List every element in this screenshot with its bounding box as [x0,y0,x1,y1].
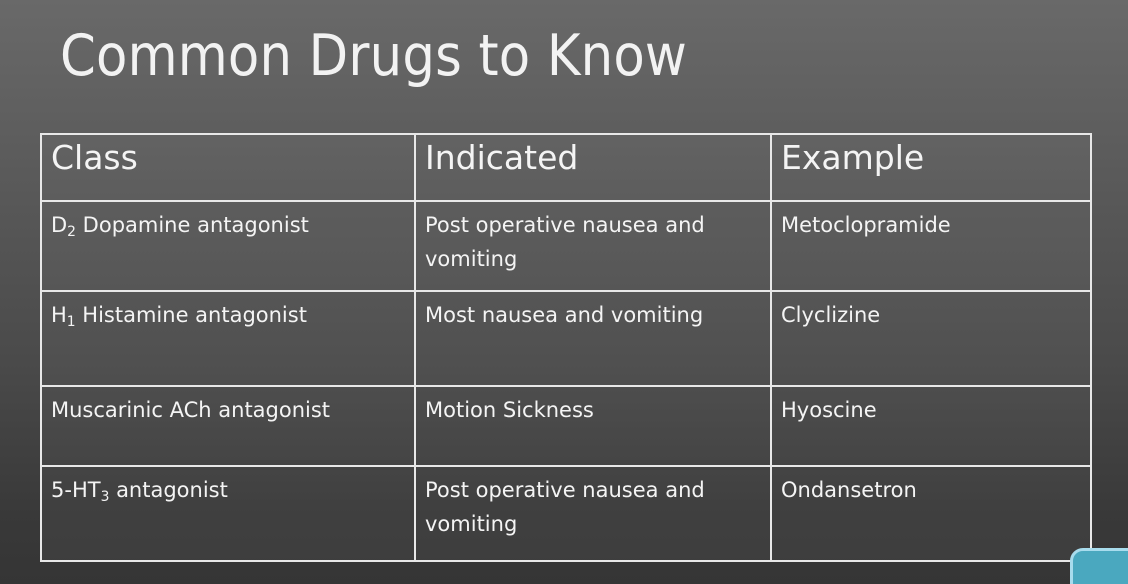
slide: Common Drugs to Know Class Indicated Exa… [0,0,1128,584]
class-text-prefix: D [51,213,67,237]
cell-indicated: Motion Sickness [415,386,771,466]
class-text-suffix: Dopamine antagonist [76,213,309,237]
page-title: Common Drugs to Know [60,28,687,85]
table-header-row: Class Indicated Example [41,134,1091,201]
table-row: D2 Dopamine antagonist Post operative na… [41,201,1091,291]
class-subscript: 1 [67,314,76,330]
cell-indicated: Post operative nausea and vomiting [415,466,771,561]
cell-indicated: Most nausea and vomiting [415,291,771,386]
cell-class: 5-HT3 antagonist [41,466,415,561]
column-header-class: Class [41,134,415,201]
class-text-suffix: antagonist [109,478,227,502]
cell-example: Clyclizine [771,291,1091,386]
cell-example: Metoclopramide [771,201,1091,291]
table-row: H1 Histamine antagonist Most nausea and … [41,291,1091,386]
cell-example: Ondansetron [771,466,1091,561]
cell-indicated: Post operative nausea and vomiting [415,201,771,291]
class-text-suffix: Histamine antagonist [76,303,307,327]
rounded-rectangle-shape [1070,548,1128,584]
drug-table: Class Indicated Example D2 Dopamine anta… [40,133,1092,562]
column-header-example: Example [771,134,1091,201]
cell-example: Hyoscine [771,386,1091,466]
cell-class: Muscarinic ACh antagonist [41,386,415,466]
class-text-prefix: H [51,303,67,327]
table-row: Muscarinic ACh antagonist Motion Sicknes… [41,386,1091,466]
class-text-prefix: 5-HT [51,478,101,502]
class-text-prefix: Muscarinic ACh antagonist [51,398,330,422]
class-subscript: 3 [101,489,110,505]
column-header-indicated: Indicated [415,134,771,201]
table-row: 5-HT3 antagonist Post operative nausea a… [41,466,1091,561]
class-subscript: 2 [67,224,76,240]
cell-class: D2 Dopamine antagonist [41,201,415,291]
cell-class: H1 Histamine antagonist [41,291,415,386]
